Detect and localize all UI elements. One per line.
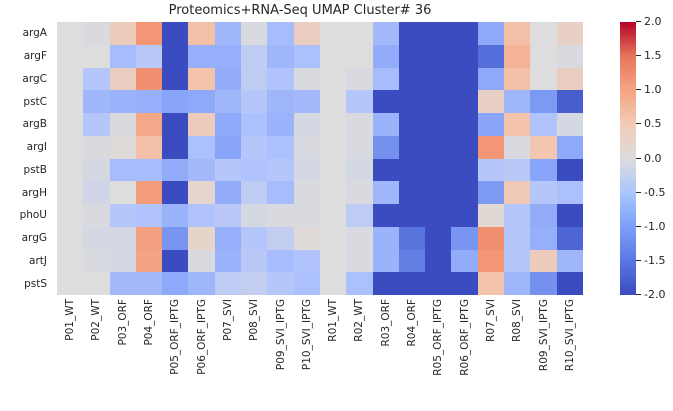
heatmap-cell [215, 113, 241, 136]
heatmap-cell [399, 159, 425, 182]
x-tick-label: P02_WT [91, 299, 102, 341]
x-tick-label: R01_WT [328, 299, 339, 342]
x-tick-label: P09_SVI_IPTG [275, 299, 286, 370]
heatmap-cell [294, 272, 320, 295]
heatmap-cell [83, 90, 109, 113]
heatmap-cell [241, 181, 267, 204]
heatmap-cell [504, 136, 530, 159]
heatmap-cell [346, 68, 372, 91]
heatmap-cell [83, 204, 109, 227]
x-tick-label-slot: P07_SVI [215, 295, 241, 411]
heatmap-cell [346, 90, 372, 113]
heatmap-cell [294, 204, 320, 227]
heatmap-cell [451, 227, 477, 250]
heatmap-cell [557, 22, 583, 45]
heatmap-cell [557, 250, 583, 273]
heatmap-cell [504, 68, 530, 91]
heatmap-cell [110, 227, 136, 250]
heatmap-cell [188, 68, 214, 91]
colorbar-tick: 0.0 [636, 152, 662, 165]
colorbar-tick-mark [636, 123, 641, 124]
heatmap-cell [83, 136, 109, 159]
heatmap-cell [188, 250, 214, 273]
x-tick-label: P01_WT [65, 299, 76, 341]
heatmap-cell [425, 90, 451, 113]
heatmap-cell [162, 45, 188, 68]
heatmap-cell [478, 68, 504, 91]
heatmap-cell [530, 272, 556, 295]
heatmap-cell [136, 204, 162, 227]
x-tick-label: P06_ORF_IPTG [196, 299, 207, 375]
x-tick-label-slot: P03_ORF [110, 295, 136, 411]
heatmap-cell [188, 22, 214, 45]
heatmap-cell [320, 227, 346, 250]
heatmap-cell [346, 272, 372, 295]
heatmap-cell [136, 136, 162, 159]
heatmap-cell [451, 68, 477, 91]
heatmap-cell [504, 250, 530, 273]
heatmap-cell [136, 181, 162, 204]
heatmap-cell [399, 113, 425, 136]
heatmap-cell [320, 136, 346, 159]
heatmap-cell [294, 227, 320, 250]
heatmap-cell [267, 22, 293, 45]
heatmap-cell [504, 204, 530, 227]
heatmap-cell [373, 159, 399, 182]
heatmap-cell [504, 181, 530, 204]
heatmap-cell [373, 136, 399, 159]
heatmap-cell [110, 181, 136, 204]
x-tick-label-slot: R01_WT [320, 295, 346, 411]
colorbar-tick: -1.0 [636, 220, 665, 233]
x-tick-label-slot: P04_ORF [136, 295, 162, 411]
y-tick-label: argH [0, 181, 52, 204]
heatmap-cell [57, 45, 83, 68]
heatmap-cell [346, 250, 372, 273]
heatmap-cell [215, 227, 241, 250]
heatmap-cell [346, 204, 372, 227]
heatmap-cell [504, 113, 530, 136]
heatmap-cell [478, 22, 504, 45]
x-tick-label: P07_SVI [223, 299, 234, 341]
heatmap-cell [399, 250, 425, 273]
heatmap-cell [267, 113, 293, 136]
heatmap-cell [530, 113, 556, 136]
y-tick-label: argI [0, 136, 52, 159]
colorbar-tick-mark [636, 294, 641, 295]
heatmap-cell [136, 90, 162, 113]
heatmap-cell [294, 159, 320, 182]
heatmap-cell [373, 90, 399, 113]
heatmap-cell [241, 22, 267, 45]
heatmap-cell [399, 204, 425, 227]
heatmap-cell [425, 204, 451, 227]
heatmap-cell [267, 90, 293, 113]
x-tick-label: R03_ORF [380, 299, 391, 347]
heatmap-cell [530, 90, 556, 113]
heatmap-cell [83, 68, 109, 91]
heatmap-cell [478, 159, 504, 182]
colorbar-tick-value: -2.0 [644, 288, 665, 301]
heatmap-cell [373, 227, 399, 250]
heatmap-cell [320, 204, 346, 227]
heatmap-cell [478, 204, 504, 227]
heatmap-cell [530, 227, 556, 250]
heatmap-cell [241, 250, 267, 273]
heatmap-cell [267, 250, 293, 273]
heatmap-cell [215, 250, 241, 273]
colorbar-tick: 1.5 [636, 49, 662, 62]
heatmap-cell [504, 45, 530, 68]
x-tick-label: R10_SVI_IPTG [565, 299, 576, 371]
heatmap-cell [530, 68, 556, 91]
heatmap-cell [557, 272, 583, 295]
heatmap-cell [320, 159, 346, 182]
heatmap-cell [557, 159, 583, 182]
heatmap-cell [241, 113, 267, 136]
heatmap-cell [425, 159, 451, 182]
heatmap-cell [188, 227, 214, 250]
heatmap-cell [530, 159, 556, 182]
heatmap-cell [346, 22, 372, 45]
heatmap-cell [425, 68, 451, 91]
x-tick-label: R09_SVI_IPTG [538, 299, 549, 371]
colorbar-tick-mark [636, 21, 641, 22]
x-axis-tick-labels: P01_WTP02_WTP03_ORFP04_ORFP05_ORF_IPTGP0… [57, 295, 583, 411]
heatmap-cell [267, 204, 293, 227]
y-tick-label: phoU [0, 204, 52, 227]
heatmap-cell [557, 68, 583, 91]
heatmap-cell [373, 181, 399, 204]
heatmap-cell [267, 227, 293, 250]
heatmap-cell [320, 250, 346, 273]
heatmap-cell [215, 22, 241, 45]
heatmap-cell [57, 204, 83, 227]
heatmap-cell [241, 68, 267, 91]
heatmap-cell [478, 272, 504, 295]
x-tick-label-slot: P01_WT [57, 295, 83, 411]
heatmap-cell [557, 227, 583, 250]
heatmap-cell [162, 68, 188, 91]
heatmap-figure: Proteomics+RNA-Seq UMAP Cluster# 36 argA… [0, 0, 673, 411]
x-tick-label-slot: R06_ORF_IPTG [452, 295, 478, 411]
x-tick-label-slot: P02_WT [83, 295, 109, 411]
heatmap-cell [83, 45, 109, 68]
heatmap-cell [399, 45, 425, 68]
heatmap-cell [267, 159, 293, 182]
y-tick-label: pstS [0, 272, 52, 295]
colorbar-tick-value: 1.0 [644, 83, 662, 96]
heatmap-cell [241, 272, 267, 295]
heatmap-cell [425, 45, 451, 68]
heatmap-cell [373, 250, 399, 273]
y-tick-label: artJ [0, 250, 52, 273]
heatmap-cell [162, 159, 188, 182]
heatmap-cell [425, 250, 451, 273]
x-tick-label-slot: P06_ORF_IPTG [189, 295, 215, 411]
heatmap-cell [425, 113, 451, 136]
heatmap-cell [451, 90, 477, 113]
heatmap-cell [267, 68, 293, 91]
colorbar-tick-mark [636, 158, 641, 159]
x-tick-label-slot: R07_SVI [478, 295, 504, 411]
heatmap-cell [346, 45, 372, 68]
heatmap-cell [57, 272, 83, 295]
heatmap-cell [294, 181, 320, 204]
heatmap-cell [346, 227, 372, 250]
heatmap-cell [294, 68, 320, 91]
colorbar-tick: -1.5 [636, 254, 665, 267]
heatmap-cell [110, 272, 136, 295]
heatmap-cell [188, 113, 214, 136]
colorbar-tick-value: -1.0 [644, 220, 665, 233]
heatmap-cell [83, 159, 109, 182]
heatmap-cell [57, 159, 83, 182]
heatmap-cell [373, 204, 399, 227]
heatmap-cell [399, 272, 425, 295]
heatmap-cell [451, 22, 477, 45]
heatmap-cell [162, 272, 188, 295]
colorbar-tick-value: -1.5 [644, 254, 665, 267]
heatmap-cell [215, 68, 241, 91]
heatmap-cell [320, 181, 346, 204]
heatmap-cell [136, 113, 162, 136]
heatmap-cell [451, 250, 477, 273]
heatmap-cell [57, 181, 83, 204]
heatmap-cell [57, 136, 83, 159]
heatmap-cell [320, 68, 346, 91]
x-tick-label: R04_ORF [407, 299, 418, 347]
heatmap-cell [110, 136, 136, 159]
y-tick-label: argB [0, 113, 52, 136]
heatmap-cell [110, 250, 136, 273]
heatmap-cell [188, 90, 214, 113]
heatmap-cell [425, 181, 451, 204]
x-tick-label-slot: P08_SVI [241, 295, 267, 411]
colorbar-tick-value: 0.0 [644, 152, 662, 165]
x-tick-label: P03_ORF [117, 299, 128, 346]
colorbar-tick: 2.0 [636, 15, 662, 28]
heatmap-cell [346, 159, 372, 182]
x-tick-label: R02_WT [354, 299, 365, 342]
heatmap-cell [504, 22, 530, 45]
heatmap-cell [110, 22, 136, 45]
heatmap-cell [373, 45, 399, 68]
heatmap-cell [294, 113, 320, 136]
heatmap-cell [478, 250, 504, 273]
heatmap-cell [215, 181, 241, 204]
colorbar-tick: -0.5 [636, 186, 665, 199]
heatmap-cell [373, 68, 399, 91]
heatmap-cell [557, 204, 583, 227]
colorbar-tick-mark [636, 55, 641, 56]
heatmap-cell [241, 90, 267, 113]
y-axis-tick-labels: argAargFargCpstCargBargIpstBargHphoUargG… [0, 22, 52, 295]
heatmap-cell [57, 68, 83, 91]
heatmap-cell [451, 159, 477, 182]
heatmap-cell [346, 113, 372, 136]
heatmap-cell [162, 204, 188, 227]
heatmap-cell [530, 204, 556, 227]
heatmap-cell [557, 90, 583, 113]
x-tick-label-slot: R10_SVI_IPTG [557, 295, 583, 411]
y-tick-label: pstC [0, 90, 52, 113]
heatmap-cell [83, 227, 109, 250]
y-tick-label: argF [0, 45, 52, 68]
heatmap-cell [110, 68, 136, 91]
heatmap-cell [136, 250, 162, 273]
heatmap-cell [478, 181, 504, 204]
colorbar-tick-value: -0.5 [644, 186, 665, 199]
heatmap-cell [241, 227, 267, 250]
heatmap-cell [57, 113, 83, 136]
heatmap-cell [478, 227, 504, 250]
heatmap-cell [136, 159, 162, 182]
colorbar-tick-value: 1.5 [644, 49, 662, 62]
heatmap-cell [451, 181, 477, 204]
heatmap-cell [241, 136, 267, 159]
heatmap-cell [399, 227, 425, 250]
heatmap-cell [136, 68, 162, 91]
colorbar-tick: 0.5 [636, 117, 662, 130]
heatmap-cell [136, 272, 162, 295]
heatmap-cell [425, 22, 451, 45]
heatmap-cell [110, 204, 136, 227]
x-tick-label: R07_SVI [486, 299, 497, 342]
heatmap-cell [188, 45, 214, 68]
heatmap-cell [188, 159, 214, 182]
heatmap-cell [136, 45, 162, 68]
heatmap-cell [320, 45, 346, 68]
heatmap-cell [110, 113, 136, 136]
heatmap-cell [557, 45, 583, 68]
heatmap-cell [294, 45, 320, 68]
heatmap-cell [399, 90, 425, 113]
heatmap-cell [136, 22, 162, 45]
heatmap-cell [162, 227, 188, 250]
heatmap-grid [57, 22, 583, 295]
heatmap-cell [215, 90, 241, 113]
heatmap-cell [241, 159, 267, 182]
x-tick-label: P04_ORF [144, 299, 155, 346]
heatmap-cell [294, 136, 320, 159]
heatmap-cell [110, 45, 136, 68]
x-tick-label-slot: P10_SVI_IPTG [294, 295, 320, 411]
heatmap-cell [504, 159, 530, 182]
x-tick-label: P05_ORF_IPTG [170, 299, 181, 375]
chart-title: Proteomics+RNA-Seq UMAP Cluster# 36 [0, 3, 600, 18]
heatmap-cell [188, 272, 214, 295]
heatmap-cell [188, 136, 214, 159]
heatmap-cell [57, 250, 83, 273]
heatmap-cell [373, 272, 399, 295]
heatmap-cell [162, 250, 188, 273]
heatmap-cell [373, 22, 399, 45]
x-tick-label: R06_ORF_IPTG [459, 299, 470, 376]
heatmap-cell [557, 113, 583, 136]
heatmap-cell [451, 45, 477, 68]
heatmap-cell [215, 272, 241, 295]
heatmap-cell [425, 272, 451, 295]
colorbar-tick: 1.0 [636, 83, 662, 96]
heatmap-cell [478, 136, 504, 159]
heatmap-cell [530, 45, 556, 68]
heatmap-cell [399, 136, 425, 159]
heatmap-cell [188, 181, 214, 204]
heatmap-cell [83, 22, 109, 45]
heatmap-cell [320, 22, 346, 45]
heatmap-cell [162, 181, 188, 204]
heatmap-cell [110, 159, 136, 182]
y-tick-label: argA [0, 22, 52, 45]
heatmap-cell [451, 136, 477, 159]
heatmap-cell [346, 136, 372, 159]
y-tick-label: argG [0, 227, 52, 250]
heatmap-cell [399, 68, 425, 91]
heatmap-cell [557, 136, 583, 159]
x-tick-label-slot: R05_ORF_IPTG [425, 295, 451, 411]
heatmap-cell [267, 45, 293, 68]
x-tick-label-slot: P09_SVI_IPTG [267, 295, 293, 411]
heatmap-cell [215, 204, 241, 227]
heatmap-cell [530, 181, 556, 204]
heatmap-cell [136, 227, 162, 250]
heatmap-cell [451, 204, 477, 227]
x-tick-label: R08_SVI [512, 299, 523, 342]
x-tick-label: P08_SVI [249, 299, 260, 341]
heatmap-cell [294, 22, 320, 45]
colorbar-tick-mark [636, 226, 641, 227]
colorbar-tick: -2.0 [636, 288, 665, 301]
y-tick-label: pstB [0, 159, 52, 182]
x-tick-label-slot: R02_WT [346, 295, 372, 411]
colorbar-tick-value: 2.0 [644, 15, 662, 28]
heatmap-cell [557, 181, 583, 204]
heatmap-plot-area [57, 22, 583, 295]
heatmap-cell [162, 136, 188, 159]
heatmap-cell [504, 272, 530, 295]
heatmap-cell [478, 113, 504, 136]
heatmap-cell [504, 227, 530, 250]
heatmap-cell [530, 250, 556, 273]
heatmap-cell [425, 136, 451, 159]
heatmap-cell [451, 113, 477, 136]
x-tick-label-slot: R03_ORF [373, 295, 399, 411]
heatmap-cell [451, 272, 477, 295]
heatmap-cell [294, 90, 320, 113]
heatmap-cell [320, 90, 346, 113]
colorbar-tick-mark [636, 192, 641, 193]
heatmap-cell [110, 90, 136, 113]
heatmap-cell [530, 22, 556, 45]
colorbar-tick-mark [636, 89, 641, 90]
heatmap-cell [373, 113, 399, 136]
heatmap-cell [57, 90, 83, 113]
heatmap-cell [478, 45, 504, 68]
heatmap-cell [267, 272, 293, 295]
heatmap-cell [346, 181, 372, 204]
x-tick-label-slot: R08_SVI [504, 295, 530, 411]
x-tick-label-slot: R09_SVI_IPTG [530, 295, 556, 411]
colorbar-tick-mark [636, 260, 641, 261]
heatmap-cell [478, 90, 504, 113]
x-tick-label: P10_SVI_IPTG [302, 299, 313, 370]
heatmap-cell [83, 272, 109, 295]
heatmap-cell [162, 90, 188, 113]
heatmap-cell [294, 250, 320, 273]
heatmap-cell [320, 113, 346, 136]
heatmap-cell [83, 181, 109, 204]
